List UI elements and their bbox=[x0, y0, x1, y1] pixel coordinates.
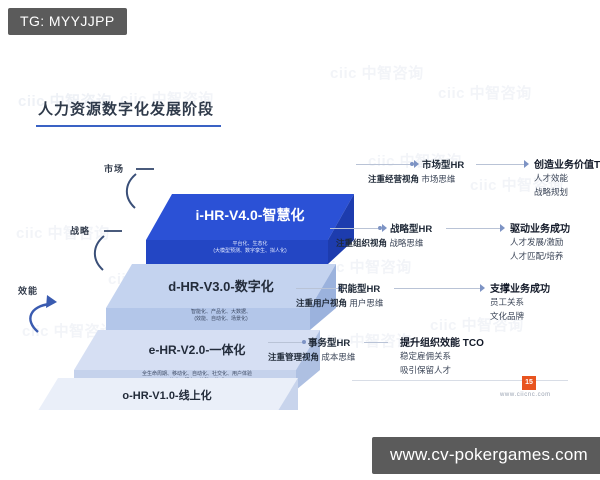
row-role-transaction: 事务型HR bbox=[308, 335, 350, 349]
row-connector-line bbox=[476, 164, 526, 165]
row-role-market: 市场型HR bbox=[422, 157, 464, 171]
row-leader-line bbox=[296, 288, 338, 289]
outcome-item: 人才效能 bbox=[534, 173, 568, 183]
stage-title-v1: o-HR-V1.0-线上化 bbox=[36, 387, 298, 403]
stage-title-v4: i-HR-V4.0-智慧化 bbox=[146, 205, 354, 225]
row-connector-line bbox=[446, 228, 502, 229]
row-role-strategy: 战略型HR bbox=[390, 221, 432, 235]
row-leader-line bbox=[330, 228, 378, 229]
row-outcome-strategy: 驱动业务成功 bbox=[510, 220, 570, 235]
row-outcome-transaction: 提升组织效能 TCO bbox=[400, 334, 484, 349]
row-outcome-function: 支撑业务成功 bbox=[490, 280, 550, 295]
outcome-item: 吸引保留人才 bbox=[400, 365, 451, 375]
row-arrow-icon bbox=[480, 284, 485, 292]
brand-watermark: ciic 中智咨询 bbox=[438, 82, 532, 103]
row-outcome-items-strategy: 人才发展/激励 人才匹配/培养 bbox=[510, 235, 563, 263]
outcome-item: 员工关系 bbox=[490, 297, 524, 307]
row-arrow-icon bbox=[524, 160, 529, 168]
outcome-item: 战略规划 bbox=[534, 187, 568, 197]
outcome-item: 人才匹配/培养 bbox=[510, 251, 563, 261]
row-perspective-light: 市场思维 bbox=[421, 174, 455, 184]
page-title: 人力资源数字化发展阶段 bbox=[38, 98, 214, 119]
row-perspective-bold: 注重组织视角 bbox=[336, 238, 387, 248]
stage-subtitle-line2: (大模型预测、数字孪生、拟人化) bbox=[213, 248, 286, 254]
row-arrow-icon bbox=[500, 224, 505, 232]
row-perspective-market: 注重经营视角 市场思维 bbox=[368, 173, 455, 185]
row-perspective-bold: 注重用户视角 bbox=[296, 298, 347, 308]
row-role-function: 职能型HR bbox=[338, 281, 380, 295]
row-arrow-icon bbox=[414, 160, 419, 168]
stage-title-v3: d-HR-V3.0-数字化 bbox=[106, 276, 336, 295]
outcome-item: 稳定雇佣关系 bbox=[400, 351, 451, 361]
row-dot-icon bbox=[302, 340, 306, 344]
row-connector-line bbox=[364, 342, 388, 343]
site-watermark-badge: www.cv-pokergames.com bbox=[372, 437, 600, 474]
axis-arc-strategy bbox=[84, 234, 112, 272]
row-perspective-strategy: 注重组织视角 战略思维 bbox=[336, 237, 423, 249]
row-connector-line bbox=[394, 288, 482, 289]
row-perspective-bold: 注重管理视角 bbox=[268, 352, 319, 362]
row-outcome-items-function: 员工关系 文化品牌 bbox=[490, 295, 524, 323]
footer-url: www.ciicnc.com bbox=[500, 392, 551, 398]
stage-subtitle-line1: 全生命周期、移动化、自动化、社交化、用户体验 bbox=[142, 371, 252, 377]
row-leader-line bbox=[268, 342, 302, 343]
row-perspective-light: 战略思维 bbox=[389, 238, 423, 248]
row-perspective-light: 用户思维 bbox=[349, 298, 383, 308]
row-perspective-function: 注重用户视角 用户思维 bbox=[296, 297, 383, 309]
slide-canvas: ciic 中智咨询 ciic 中智咨询 ciic 中智咨询 ciic 中智咨询 … bbox=[0, 58, 600, 410]
stage-block-v4[interactable]: i-HR-V4.0-智慧化 平台化、生态化 (大模型预测、数字孪生、拟人化) bbox=[146, 194, 354, 264]
outcome-item: 人才发展/激励 bbox=[510, 237, 563, 247]
stage-subtitle-line1: 平台化、生态化 bbox=[232, 241, 267, 247]
axis-dash-strategy bbox=[104, 230, 122, 232]
row-outcome-market: 创造业务价值TVO bbox=[534, 156, 600, 171]
row-arrow-icon bbox=[382, 224, 387, 232]
row-outcome-items-transaction: 稳定雇佣关系 吸引保留人才 bbox=[400, 349, 451, 377]
row-outcome-items-market: 人才效能 战略规划 bbox=[534, 171, 568, 199]
brand-watermark: ciic 中智咨询 bbox=[330, 62, 424, 83]
outcome-item: 文化品牌 bbox=[490, 311, 524, 321]
axis-arc-efficiency bbox=[16, 290, 62, 336]
stage-subtitle-v4: 平台化、生态化 (大模型预测、数字孪生、拟人化) bbox=[146, 241, 354, 256]
stage-subtitle-v3: 智能化、产品化、大数据、 (效能、自动化、场景化) bbox=[106, 309, 336, 324]
title-underline bbox=[36, 125, 221, 127]
row-perspective-light: 成本思维 bbox=[321, 352, 355, 362]
stage-subtitle-line1: 智能化、产品化、大数据、 bbox=[191, 309, 251, 315]
axis-arc-market bbox=[116, 172, 144, 210]
row-leader-line bbox=[356, 164, 410, 165]
stage-block-v1[interactable]: o-HR-V1.0-线上化 组织、岗位、人员信息、入离调转、薪酬月报管理/流 (… bbox=[36, 378, 298, 410]
telegram-watermark-badge: TG: MYYJJPP bbox=[8, 8, 127, 35]
page-number-badge: 15 bbox=[522, 376, 536, 390]
row-perspective-bold: 注重经营视角 bbox=[368, 174, 419, 184]
row-perspective-transaction: 注重管理视角 成本思维 bbox=[268, 351, 355, 363]
axis-dash-market bbox=[136, 168, 154, 170]
stage-subtitle-line2: (效能、自动化、场景化) bbox=[194, 316, 247, 322]
